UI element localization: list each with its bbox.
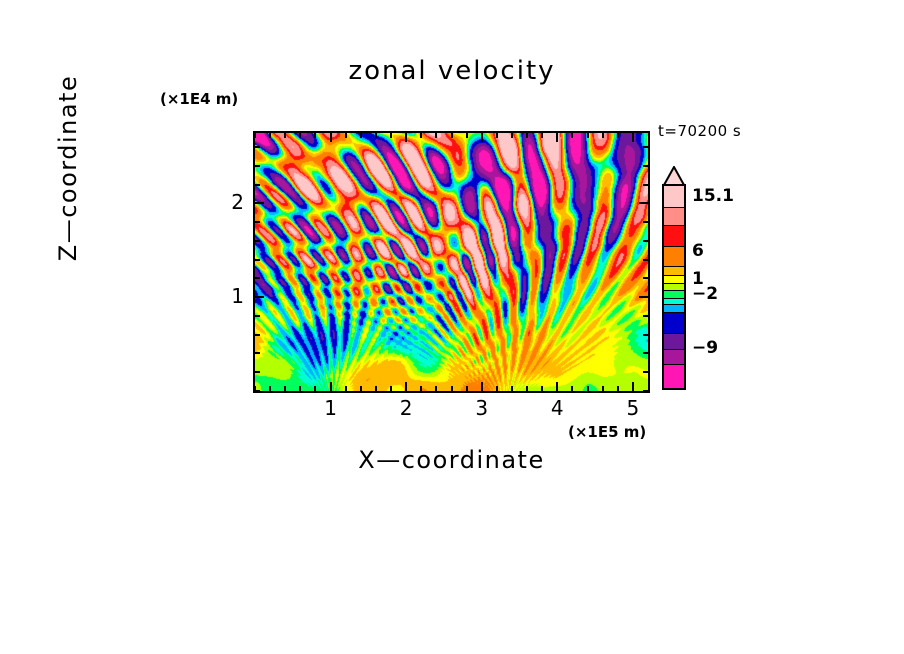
- x-tick: [571, 386, 573, 391]
- colorbar-band: [664, 312, 684, 333]
- x-tick-label: 5: [618, 396, 648, 420]
- y-tick-right: [643, 390, 648, 392]
- x-axis-units-label: (×1E5 m): [568, 423, 646, 441]
- y-tick: [255, 296, 264, 298]
- x-tick: [617, 386, 619, 391]
- y-tick-right: [643, 240, 648, 242]
- x-tick-top: [541, 133, 543, 138]
- x-tick: [526, 386, 528, 391]
- colorbar-label: 15.1: [692, 186, 734, 206]
- x-tick-top: [571, 133, 573, 138]
- contour-field: [255, 133, 648, 391]
- x-tick-top: [314, 133, 316, 138]
- x-tick-top: [345, 133, 347, 138]
- x-tick-top: [632, 133, 634, 142]
- colorbar-band: [664, 186, 684, 207]
- x-tick: [466, 386, 468, 391]
- x-tick: [269, 386, 271, 391]
- y-axis-units-label: (×1E4 m): [160, 90, 238, 108]
- y-tick-right: [639, 296, 648, 298]
- x-tick: [345, 386, 347, 391]
- x-tick: [481, 382, 483, 391]
- y-tick-right: [643, 221, 648, 223]
- x-tick: [314, 386, 316, 391]
- y-tick-right: [643, 352, 648, 354]
- y-tick: [255, 371, 260, 373]
- y-tick: [255, 390, 260, 392]
- y-tick-right: [643, 259, 648, 261]
- x-tick-top: [481, 133, 483, 142]
- colorbar-label: 6: [692, 241, 704, 261]
- y-tick-right: [643, 165, 648, 167]
- x-tick-top: [496, 133, 498, 138]
- x-tick-label: 4: [542, 396, 572, 420]
- x-tick-top: [602, 133, 604, 138]
- x-tick: [330, 382, 332, 391]
- x-tick: [420, 386, 422, 391]
- colorbar-label: −9: [692, 338, 718, 358]
- y-tick-label: 2: [222, 190, 244, 214]
- figure-canvas: zonal velocity (×1E4 m) t=70200 s 12345 …: [0, 0, 904, 654]
- x-tick: [632, 382, 634, 391]
- y-tick-right: [643, 146, 648, 148]
- x-tick-top: [360, 133, 362, 138]
- y-tick: [255, 277, 260, 279]
- x-tick: [587, 386, 589, 391]
- x-tick-top: [451, 133, 453, 138]
- colorbar-arrow-icon: [662, 166, 686, 186]
- x-tick-top: [466, 133, 468, 138]
- x-tick: [435, 386, 437, 391]
- x-axis-title: X—coordinate: [253, 446, 650, 474]
- colorbar-band: [664, 225, 684, 246]
- time-annotation: t=70200 s: [658, 122, 741, 140]
- y-tick: [255, 184, 260, 186]
- x-tick: [496, 386, 498, 391]
- y-tick: [255, 240, 260, 242]
- colorbar-band: [664, 290, 684, 298]
- x-tick-label: 1: [316, 396, 346, 420]
- y-tick-right: [643, 334, 648, 336]
- x-tick: [375, 386, 377, 391]
- x-tick: [299, 386, 301, 391]
- colorbar-band: [664, 304, 684, 312]
- x-tick-top: [617, 133, 619, 138]
- y-tick: [255, 334, 260, 336]
- colorbar-band: [664, 246, 684, 267]
- x-tick-top: [405, 133, 407, 142]
- x-tick-top: [587, 133, 589, 138]
- y-tick: [255, 146, 260, 148]
- y-tick-right: [643, 371, 648, 373]
- x-tick-top: [526, 133, 528, 138]
- x-tick-top: [299, 133, 301, 138]
- x-tick: [405, 382, 407, 391]
- colorbar-band: [664, 333, 684, 349]
- y-tick: [255, 315, 260, 317]
- y-tick: [255, 221, 260, 223]
- x-tick-top: [511, 133, 513, 138]
- page-title: zonal velocity: [0, 56, 904, 86]
- y-tick: [255, 165, 260, 167]
- x-tick-top: [269, 133, 271, 138]
- x-tick: [360, 386, 362, 391]
- x-tick: [451, 386, 453, 391]
- x-tick: [541, 386, 543, 391]
- x-tick-top: [556, 133, 558, 142]
- x-tick-top: [284, 133, 286, 138]
- y-tick-label: 1: [222, 284, 244, 308]
- colorbar-band: [664, 266, 684, 274]
- y-tick: [255, 259, 260, 261]
- x-tick: [511, 386, 513, 391]
- x-tick: [390, 386, 392, 391]
- x-tick-top: [254, 133, 256, 138]
- x-tick: [556, 382, 558, 391]
- colorbar-band: [664, 364, 684, 388]
- x-tick-label: 3: [467, 396, 497, 420]
- x-tick-top: [375, 133, 377, 138]
- x-tick-top: [330, 133, 332, 142]
- x-tick-top: [390, 133, 392, 138]
- colorbar-label: −2: [692, 284, 718, 304]
- y-tick-right: [643, 315, 648, 317]
- y-tick-right: [643, 277, 648, 279]
- x-tick: [284, 386, 286, 391]
- y-axis-title: Z—coordinate: [54, 41, 84, 295]
- y-tick-right: [643, 184, 648, 186]
- x-tick-top: [420, 133, 422, 138]
- colorbar-band: [664, 207, 684, 226]
- colorbar-legend: [662, 184, 686, 390]
- y-tick: [255, 202, 264, 204]
- x-tick: [602, 386, 604, 391]
- colorbar-band: [664, 275, 684, 283]
- x-tick-top: [435, 133, 437, 138]
- x-tick-label: 2: [391, 396, 421, 420]
- y-tick-right: [639, 202, 648, 204]
- y-tick: [255, 352, 260, 354]
- colorbar-band: [664, 283, 684, 290]
- colorbar-band: [664, 349, 684, 365]
- plot-area: [253, 131, 650, 393]
